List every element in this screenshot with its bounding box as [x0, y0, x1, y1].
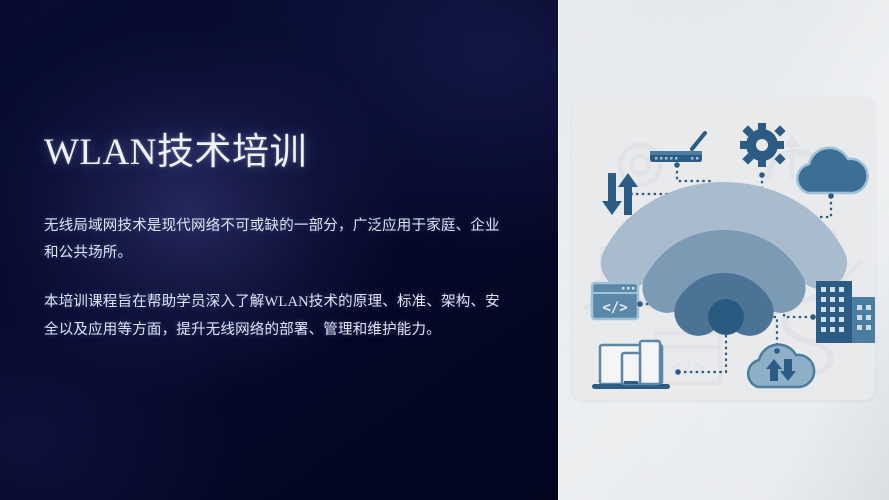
wifi-center-dot — [708, 299, 744, 335]
intro-paragraph: 无线局域网技术是现代网络不可或缺的一部分，广泛应用于家庭、企业和公共场所。 — [44, 213, 514, 269]
right-light-panel: </> — [558, 0, 889, 500]
course-objective-paragraph: 本培训课程旨在帮助学员深入了解WLAN技术的原理、标准、架构、安全以及应用等方面… — [44, 289, 514, 345]
slide-canvas: WLAN技术培训 无线局域网技术是现代网络不可或缺的一部分，广泛应用于家庭、企业… — [0, 0, 889, 500]
svg-text:</>: </> — [670, 355, 706, 379]
illustration-card: </> — [572, 97, 875, 400]
wlan-network-diagram: </> — [572, 97, 875, 400]
page-title: WLAN技术培训 — [44, 132, 514, 175]
svg-text:</>: </> — [602, 300, 627, 316]
left-dark-panel: WLAN技术培训 无线局域网技术是现代网络不可或缺的一部分，广泛应用于家庭、企业… — [0, 0, 558, 500]
code-window-icon: </> — [592, 283, 643, 319]
text-content-block: WLAN技术培训 无线局域网技术是现代网络不可或缺的一部分，广泛应用于家庭、企业… — [44, 132, 514, 345]
panel-divider — [558, 0, 559, 500]
